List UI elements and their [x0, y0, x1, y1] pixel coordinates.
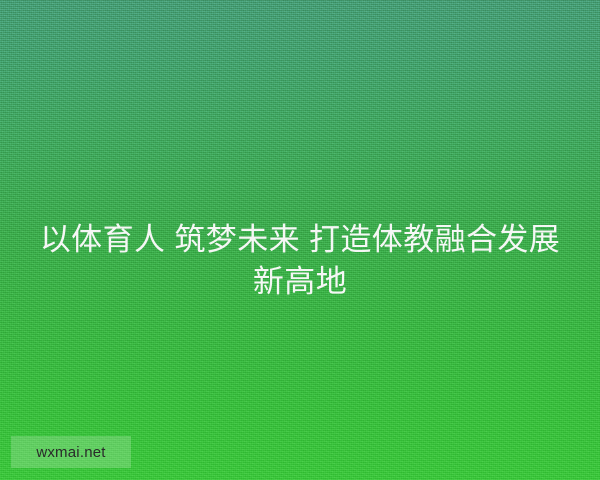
- article-banner: 以体育人 筑梦未来 打造体教融合发展新高地 wxmai.net: [0, 0, 600, 480]
- source-watermark: wxmai.net: [11, 436, 131, 468]
- watermark-label: wxmai.net: [36, 445, 105, 460]
- banner-headline: 以体育人 筑梦未来 打造体教融合发展新高地: [0, 219, 600, 303]
